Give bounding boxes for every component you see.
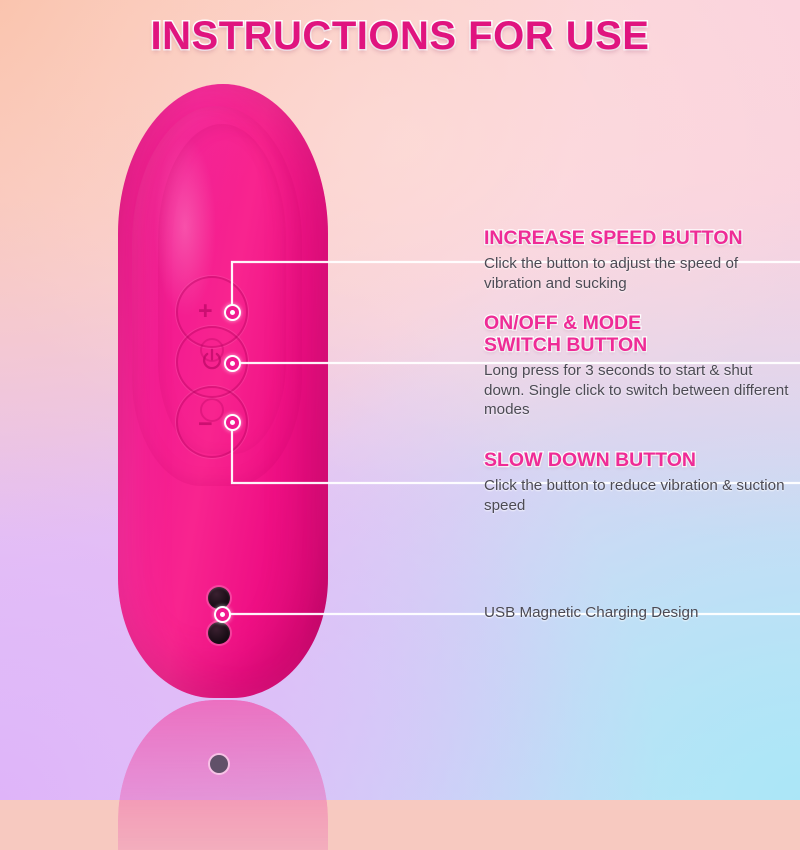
page-title: INSTRUCTIONS FOR USE <box>0 14 800 59</box>
callout-usb-charging: USB Magnetic Charging Design <box>484 604 698 621</box>
charging-contact-bottom <box>208 622 230 644</box>
marker-onoff-mode[interactable] <box>224 355 241 372</box>
callout-heading-onoff-mode: ON/OFF & MODE SWITCH BUTTON <box>484 313 796 357</box>
callout-body-slow-down: Click the button to reduce vibration & s… <box>484 476 796 516</box>
callout-onoff-mode: ON/OFF & MODE SWITCH BUTTON Long press f… <box>484 313 796 420</box>
callout-heading-onoff-line2: SWITCH BUTTON <box>484 334 647 356</box>
callout-increase-speed: INCREASE SPEED BUTTON Click the button t… <box>484 228 796 294</box>
reflection-contact-dot <box>210 755 228 773</box>
callout-slow-down: SLOW DOWN BUTTON Click the button to red… <box>484 450 796 516</box>
plus-icon: + <box>198 299 213 324</box>
callout-heading-onoff-line1: ON/OFF & MODE <box>484 312 641 334</box>
product-reflection <box>118 700 328 850</box>
minus-icon: − <box>198 412 213 437</box>
power-icon <box>199 347 225 373</box>
callout-body-onoff-mode: Long press for 3 seconds to start & shut… <box>484 361 796 421</box>
marker-slow-down[interactable] <box>224 414 241 431</box>
callout-heading-slow-down: SLOW DOWN BUTTON <box>484 450 796 472</box>
marker-usb-charging[interactable] <box>214 606 231 623</box>
marker-increase-speed[interactable] <box>224 304 241 321</box>
callout-heading-increase-speed: INCREASE SPEED BUTTON <box>484 228 796 250</box>
reflection-body <box>118 700 328 850</box>
callout-body-increase-speed: Click the button to adjust the speed of … <box>484 254 796 294</box>
